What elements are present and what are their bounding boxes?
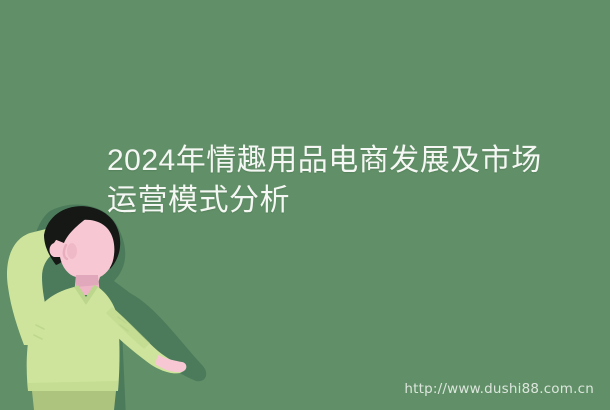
promo-banner: 2024年情趣用品电商发展及市场运营模式分析 http://www.dushi8…: [0, 0, 610, 410]
sweater-hem-shape: [28, 381, 118, 391]
neck-shape: [74, 275, 100, 295]
pants-shape: [32, 391, 116, 410]
extended-arm-shape: [106, 307, 185, 373]
cheek-shade: [67, 243, 77, 259]
extended-arm-shade: [106, 307, 150, 349]
hand-shape: [155, 355, 186, 372]
sleeve-fold-lines: [34, 317, 128, 339]
neck-shadow: [76, 275, 98, 287]
sweater-body-shape: [27, 287, 120, 391]
page-title: 2024年情趣用品电商发展及市场运营模式分析: [107, 141, 547, 221]
source-url-watermark: http://www.dushi88.com.cn: [404, 381, 594, 397]
raised-arm-shape: [7, 225, 68, 345]
hair-front-strand: [54, 217, 88, 243]
figure-shadow-group: [33, 204, 207, 410]
nose-shape: [64, 245, 67, 259]
face-shape: [50, 220, 115, 289]
person-hand-behind-head-illustration: [0, 195, 210, 410]
sweater-collar-shape: [74, 285, 98, 305]
